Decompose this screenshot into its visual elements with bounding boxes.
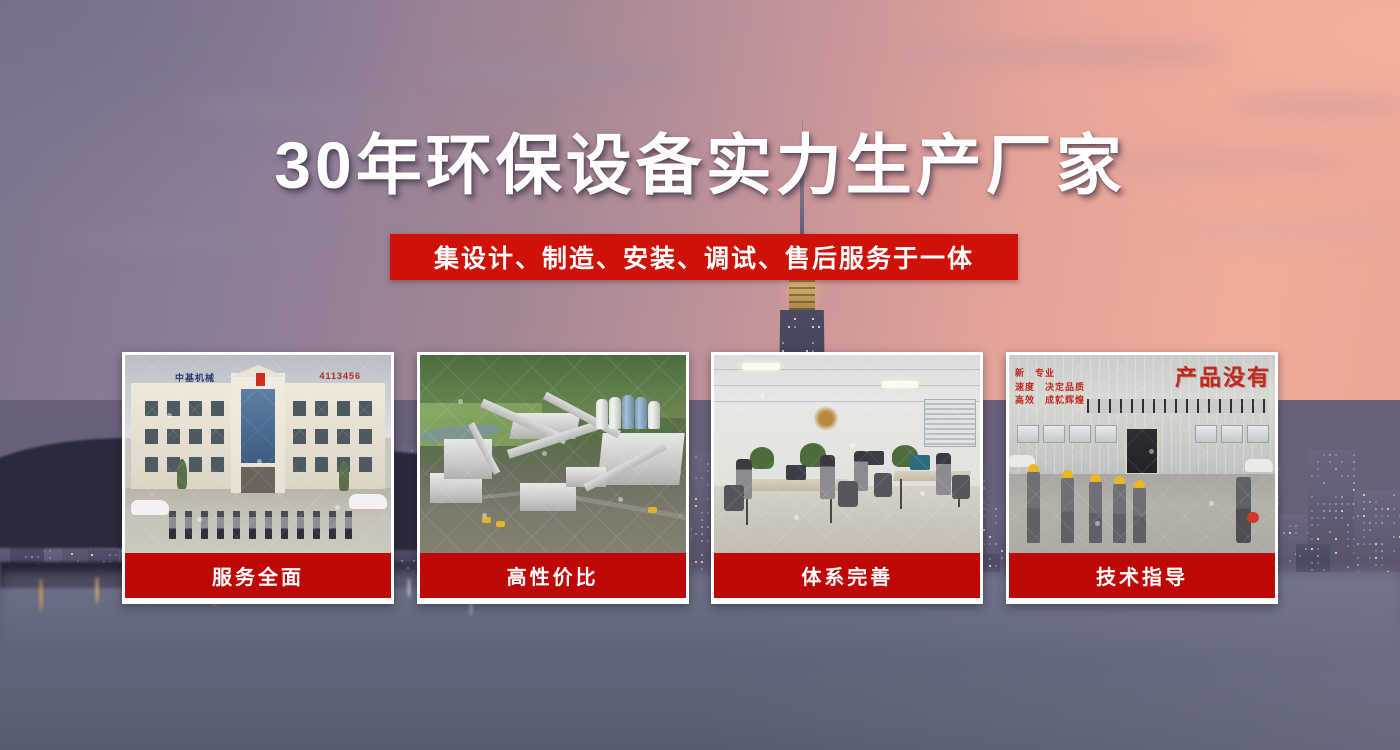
company-phone-text: 4113456 (319, 371, 361, 381)
building-window (31, 556, 33, 558)
building-window (1375, 543, 1377, 545)
building-window (1375, 501, 1377, 503)
building-window (1375, 515, 1377, 517)
wall-decoration (809, 403, 843, 431)
staff-person (329, 511, 336, 539)
water-reflection (40, 578, 42, 612)
building-window (1353, 454, 1355, 456)
factory-window (1195, 425, 1217, 443)
building-window (1363, 522, 1365, 524)
office-employee (820, 455, 835, 499)
building-window (1387, 508, 1389, 510)
car (1245, 459, 1273, 472)
desk-leg (900, 479, 902, 509)
card-caption: 服务全面 (125, 553, 391, 598)
hard-hat-icon (1090, 474, 1101, 482)
car (349, 494, 387, 509)
tower-window (812, 326, 814, 328)
factory-window (1043, 425, 1065, 443)
building-window (1317, 524, 1319, 526)
subtitle-text: 集设计、制造、安装、调试、售后服务于一体 (434, 239, 974, 275)
construction-vehicle (648, 507, 657, 513)
building-window (189, 457, 202, 472)
building-window (1347, 531, 1349, 533)
building-window (1363, 494, 1365, 496)
building-window (1353, 482, 1355, 484)
building-window (1381, 543, 1383, 545)
computer-monitor (786, 465, 806, 480)
water-reflection (96, 576, 98, 604)
building-window (1363, 515, 1365, 517)
building-window (1329, 461, 1331, 463)
building-window (1335, 454, 1337, 456)
building-window (1335, 503, 1337, 505)
building-window (1317, 517, 1319, 519)
building-window (1317, 555, 1319, 557)
factory-window (1069, 425, 1091, 443)
building-window (25, 556, 27, 558)
feature-card[interactable]: 产品没有 新 专业速度 决定品质高效 成就辉煌 (1006, 352, 1278, 604)
building-window (1369, 501, 1371, 503)
factory-window (1247, 425, 1269, 443)
building-window (1335, 517, 1337, 519)
building-window (1323, 482, 1325, 484)
tower-window (782, 342, 784, 344)
building-window (1347, 524, 1349, 526)
building-window (1381, 550, 1383, 552)
building-window (1317, 503, 1319, 505)
building-window (1381, 508, 1383, 510)
building-window (1323, 454, 1325, 456)
building-window (1363, 508, 1365, 510)
storage-silo (622, 395, 634, 429)
building-window (1323, 503, 1325, 505)
card-photo-office-interior (714, 355, 980, 553)
building-window (1289, 532, 1291, 534)
card-caption: 体系完善 (714, 553, 980, 598)
staff-person (201, 511, 208, 539)
building-window (1357, 515, 1359, 517)
worker (1027, 471, 1040, 543)
building-window (1341, 496, 1343, 498)
car (131, 500, 169, 515)
page-title: 30年环保设备实力生产厂家 (0, 128, 1400, 204)
building-window (1381, 564, 1383, 566)
building-window (1311, 538, 1313, 540)
building-window (1381, 515, 1383, 517)
worker (1089, 481, 1102, 543)
building-window (189, 429, 202, 444)
building-window (293, 429, 306, 444)
tower-window (794, 318, 796, 320)
cloud-shape (180, 100, 380, 118)
building-window (359, 457, 372, 472)
building-window (1387, 515, 1389, 517)
building-window (145, 401, 158, 416)
building-window (1363, 543, 1365, 545)
building-window (145, 457, 158, 472)
building-window (1289, 525, 1291, 527)
card-caption: 技术指导 (1009, 553, 1275, 598)
building-window (1323, 510, 1325, 512)
factory-door (1125, 427, 1159, 475)
building-window (1311, 496, 1313, 498)
hard-hat-icon (1114, 476, 1125, 484)
feature-card[interactable]: 中基机械 4113456 (122, 352, 394, 604)
building-window (1323, 569, 1325, 571)
building-window (1295, 532, 1297, 534)
card-caption: 高性价比 (420, 553, 686, 598)
building-window (1369, 522, 1371, 524)
worker (1133, 487, 1146, 543)
tree (339, 461, 349, 491)
building-window (167, 401, 180, 416)
cloud-shape (900, 40, 1230, 68)
ceiling-grid-line (714, 385, 980, 386)
building-window (359, 401, 372, 416)
building-window (315, 429, 328, 444)
building-window (115, 554, 117, 556)
plant-building (520, 483, 576, 511)
building-window (1375, 557, 1377, 559)
construction-vehicle (482, 517, 491, 523)
supervisor (1236, 477, 1251, 543)
office-chair (724, 485, 744, 511)
building-window (145, 429, 158, 444)
building-window (1341, 503, 1343, 505)
tower-window (788, 326, 790, 328)
factory-slogan-large: 产品没有 (1175, 360, 1271, 392)
office-window (924, 399, 976, 447)
building-window (1335, 510, 1337, 512)
feature-card[interactable]: 高性价比 (417, 352, 689, 604)
staff-person (233, 511, 240, 539)
building-window (1311, 517, 1313, 519)
building-window (1299, 555, 1301, 557)
storage-silo (648, 401, 660, 429)
company-sign-text: 中基机械 (175, 371, 215, 384)
building-window (1335, 538, 1337, 540)
building-window (1329, 454, 1331, 456)
building-window (1375, 550, 1377, 552)
ceiling-lamp (742, 363, 780, 370)
building-window (1347, 475, 1349, 477)
promo-banner: 30年环保设备实力生产厂家 集设计、制造、安装、调试、售后服务于一体 (0, 0, 1400, 750)
building-window (1311, 524, 1313, 526)
building-window (1323, 517, 1325, 519)
staff-person (217, 511, 224, 539)
building-window (1335, 496, 1337, 498)
potted-plant (750, 447, 774, 469)
building-window (167, 429, 180, 444)
cloud-shape (1230, 95, 1400, 115)
building-window (1353, 461, 1355, 463)
building-window (37, 556, 39, 558)
tower-window (818, 326, 820, 328)
building-window (359, 429, 372, 444)
building-window (1381, 522, 1383, 524)
building-glass-facade (241, 389, 275, 463)
feature-card[interactable]: 体系完善 (711, 352, 983, 604)
building-window (49, 557, 51, 559)
building-window (1317, 475, 1319, 477)
tower-window (812, 318, 814, 320)
building-window (1311, 548, 1313, 550)
computer-monitor (866, 451, 884, 465)
subtitle-banner: 集设计、制造、安装、调试、售后服务于一体 (390, 234, 1018, 280)
building-window (1317, 461, 1319, 463)
building-window (1341, 510, 1343, 512)
wall-louvers (1087, 399, 1267, 413)
building-window (1329, 503, 1331, 505)
staff-person (345, 511, 352, 539)
building-window (49, 550, 51, 552)
building-window (1317, 538, 1319, 540)
staff-person (313, 511, 320, 539)
building-window (1363, 529, 1365, 531)
building-window (211, 401, 224, 416)
storage-silo (596, 399, 608, 429)
hard-hat-icon (1028, 464, 1039, 472)
building-window (211, 457, 224, 472)
building-window (189, 401, 202, 416)
building-window (1341, 475, 1343, 477)
building-window (1329, 510, 1331, 512)
computer-monitor (910, 455, 930, 470)
staff-person (281, 511, 288, 539)
office-chair (952, 475, 970, 499)
building-window (315, 401, 328, 416)
building-window (1317, 548, 1319, 550)
building-window (1363, 536, 1365, 538)
building-window (1393, 536, 1395, 538)
building-window (1375, 508, 1377, 510)
building-window (91, 554, 93, 556)
cloud-shape (430, 60, 690, 86)
building-window (1317, 468, 1319, 470)
office-chair (838, 481, 858, 507)
building-window (1289, 560, 1291, 562)
building-window (315, 457, 328, 472)
building-window (1311, 475, 1313, 477)
flag (256, 373, 265, 386)
building-window (1347, 538, 1349, 540)
building-window (1369, 557, 1371, 559)
red-helmet-icon (1247, 512, 1259, 523)
building-window (1357, 543, 1359, 545)
building-window (1335, 552, 1337, 554)
building-entrance (241, 467, 275, 493)
building-window (1341, 517, 1343, 519)
building-window (1305, 548, 1307, 550)
hard-hat-icon (1134, 480, 1145, 488)
building-window (1317, 562, 1319, 564)
building-window (1335, 468, 1337, 470)
building-window (1369, 529, 1371, 531)
building-window (1295, 525, 1297, 527)
hard-hat-icon (1062, 470, 1073, 478)
tree (177, 459, 187, 489)
building-window (1393, 508, 1395, 510)
staff-person (297, 511, 304, 539)
factory-window (1221, 425, 1243, 443)
building-window (1363, 501, 1365, 503)
worker (1113, 483, 1126, 543)
worker (1061, 477, 1074, 543)
storage-silo (609, 397, 621, 429)
building-window (337, 401, 350, 416)
building-window (1375, 564, 1377, 566)
building-window (1393, 550, 1395, 552)
building-window (1283, 532, 1285, 534)
staff-person (249, 511, 256, 539)
cloud-shape (1180, 220, 1400, 240)
staff-person (169, 511, 176, 539)
building-window (1347, 503, 1349, 505)
building-window (71, 553, 73, 555)
building-window (1311, 562, 1313, 564)
tower-window (794, 326, 796, 328)
tower-window (812, 342, 814, 344)
staff-person (265, 511, 272, 539)
building-window (1369, 543, 1371, 545)
building-window (337, 429, 350, 444)
feature-card-list: 中基机械 4113456 (122, 352, 1278, 604)
building-window (1357, 557, 1359, 559)
office-employee (936, 453, 951, 495)
building-window (1393, 522, 1395, 524)
card-photo-company-building: 中基机械 4113456 (125, 355, 391, 553)
building-window (1357, 564, 1359, 566)
factory-slogan-small: 新 专业速度 决定品质高效 成就辉煌 (1015, 367, 1085, 408)
building-window (293, 457, 306, 472)
card-photo-factory-workers: 产品没有 新 专业速度 决定品质高效 成就辉煌 (1009, 355, 1275, 553)
building-window (1353, 468, 1355, 470)
building-window (1311, 569, 1313, 571)
building-window (1381, 557, 1383, 559)
building-window (1341, 461, 1343, 463)
building-window (1347, 566, 1349, 568)
storage-silo (635, 397, 647, 429)
building-window (1375, 522, 1377, 524)
building-window (211, 429, 224, 444)
staff-person (185, 511, 192, 539)
building-window (1353, 475, 1355, 477)
building-window (109, 554, 111, 556)
office-chair (874, 473, 892, 497)
factory-window (1095, 425, 1117, 443)
building-window (1393, 494, 1395, 496)
card-photo-industrial-plant (420, 355, 686, 553)
building-window (293, 401, 306, 416)
cloud-shape (60, 230, 360, 252)
ceiling-lamp (882, 381, 918, 388)
building-window (1311, 510, 1313, 512)
building-window (1329, 531, 1331, 533)
factory-window (1017, 425, 1039, 443)
construction-vehicle (496, 521, 505, 527)
building-window (1347, 545, 1349, 547)
